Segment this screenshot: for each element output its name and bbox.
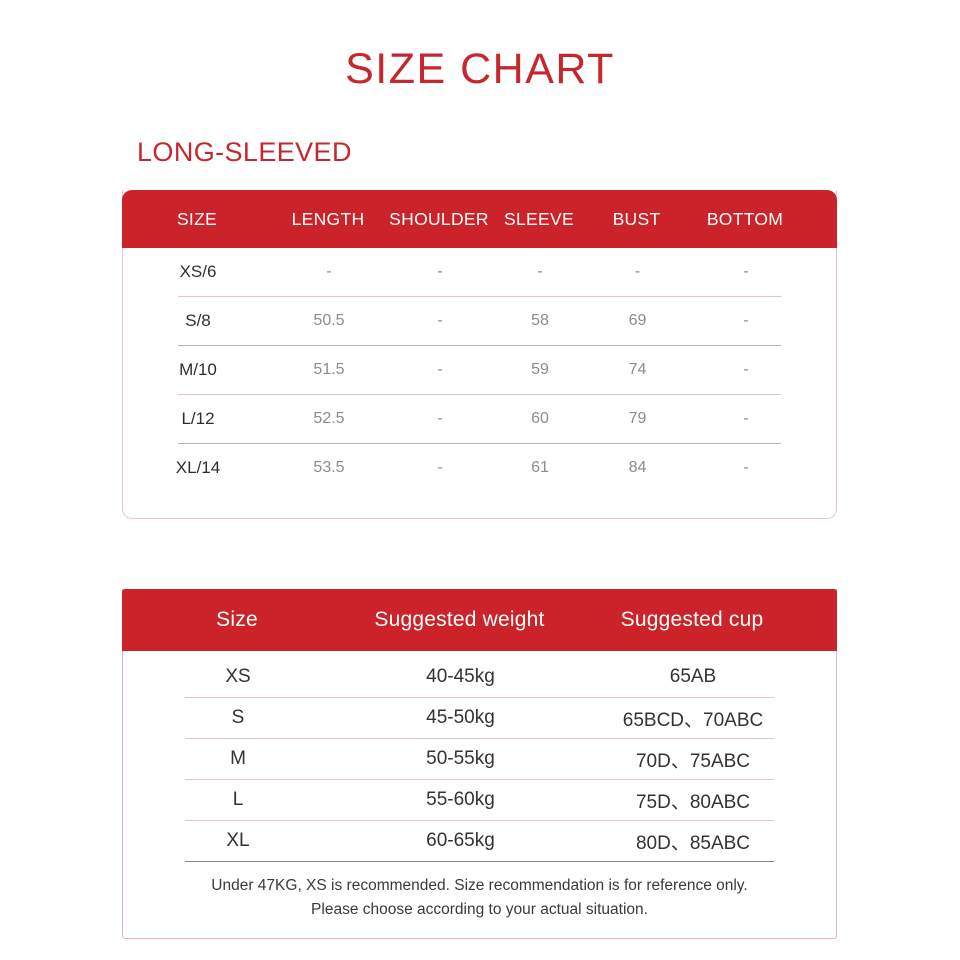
cell-size: XL [123, 830, 353, 852]
cell-length: 53.5 [273, 459, 385, 477]
cell-bottom: - [690, 410, 802, 428]
cell-size: L/12 [123, 409, 273, 429]
cell-sleeve: - [495, 263, 585, 281]
table-row: M 50-55kg 70D、75ABC [123, 739, 836, 779]
cell-suggested-weight: 55-60kg [353, 789, 568, 811]
column-header-bottom: BOTTOM [689, 209, 801, 230]
cell-suggested-weight: 50-55kg [353, 748, 568, 770]
cell-bust: 69 [585, 312, 690, 330]
cell-suggested-cup: 80D、85ABC [568, 828, 818, 855]
cell-bust: - [585, 263, 690, 281]
table-row: XS/6 - - - - - [123, 248, 836, 296]
cell-suggested-weight: 45-50kg [353, 707, 568, 729]
cell-bottom: - [690, 312, 802, 330]
table-row: S 45-50kg 65BCD、70ABC [123, 698, 836, 738]
cell-sleeve: 61 [495, 459, 585, 477]
cell-size: M [123, 748, 353, 770]
column-header-bust: BUST [584, 209, 689, 230]
table-row: M/10 51.5 - 59 74 - [123, 346, 836, 394]
column-header-suggested-cup: Suggested cup [567, 608, 817, 632]
table-row: L/12 52.5 - 60 79 - [123, 395, 836, 443]
cell-length: 52.5 [273, 410, 385, 428]
column-header-size: SIZE [122, 209, 272, 230]
cell-bottom: - [690, 263, 802, 281]
size-table-header-row: SIZE LENGTH SHOULDER SLEEVE BUST BOTTOM [122, 190, 837, 248]
cell-length: - [273, 263, 385, 281]
table-row: S/8 50.5 - 58 69 - [123, 297, 836, 345]
cell-size: S [123, 707, 353, 729]
column-header-sleeve: SLEEVE [494, 209, 584, 230]
cell-bottom: - [690, 361, 802, 379]
size-measurement-table: SIZE LENGTH SHOULDER SLEEVE BUST BOTTOM … [122, 190, 837, 519]
cell-suggested-cup: 65BCD、70ABC [568, 705, 818, 732]
cell-shoulder: - [385, 312, 495, 330]
cell-size: L [123, 789, 353, 811]
cell-size: S/8 [123, 311, 273, 331]
page-title: SIZE CHART [0, 46, 960, 93]
cell-suggested-cup: 65AB [568, 666, 818, 688]
size-recommendation-note: Under 47KG, XS is recommended. Size reco… [123, 862, 836, 938]
cell-suggested-weight: 40-45kg [353, 666, 568, 688]
cell-shoulder: - [385, 361, 495, 379]
cell-shoulder: - [385, 459, 495, 477]
cell-suggested-cup: 70D、75ABC [568, 746, 818, 773]
cell-bust: 74 [585, 361, 690, 379]
note-line-1: Under 47KG, XS is recommended. Size reco… [123, 874, 836, 898]
cell-sleeve: 60 [495, 410, 585, 428]
cell-sleeve: 59 [495, 361, 585, 379]
table-row: XL/14 53.5 - 61 84 - [123, 444, 836, 492]
cell-size: XL/14 [123, 458, 273, 478]
table-row: XS 40-45kg 65AB [123, 657, 836, 697]
column-header-length: LENGTH [272, 209, 384, 230]
cell-shoulder: - [385, 410, 495, 428]
cell-suggested-cup: 75D、80ABC [568, 787, 818, 814]
cell-length: 51.5 [273, 361, 385, 379]
column-header-suggested-weight: Suggested weight [352, 608, 567, 632]
cell-size: XS/6 [123, 262, 273, 282]
cell-size: M/10 [123, 360, 273, 380]
cell-shoulder: - [385, 263, 495, 281]
column-header-shoulder: SHOULDER [384, 209, 494, 230]
cell-size: XS [123, 666, 353, 688]
cell-bust: 84 [585, 459, 690, 477]
cell-length: 50.5 [273, 312, 385, 330]
cell-suggested-weight: 60-65kg [353, 830, 568, 852]
column-header-size: Size [122, 608, 352, 632]
note-line-2: Please choose according to your actual s… [123, 898, 836, 922]
size-chart-page: SIZE CHART LONG-SLEEVED SIZE LENGTH SHOU… [0, 0, 960, 960]
cell-bottom: - [690, 459, 802, 477]
section-title-long-sleeved: LONG-SLEEVED [137, 138, 352, 168]
cell-sleeve: 58 [495, 312, 585, 330]
size-recommendation-table: Size Suggested weight Suggested cup XS 4… [122, 589, 837, 939]
recommendation-table-header-row: Size Suggested weight Suggested cup [122, 589, 837, 651]
table-row: XL 60-65kg 80D、85ABC [123, 821, 836, 861]
cell-bust: 79 [585, 410, 690, 428]
table-row: L 55-60kg 75D、80ABC [123, 780, 836, 820]
